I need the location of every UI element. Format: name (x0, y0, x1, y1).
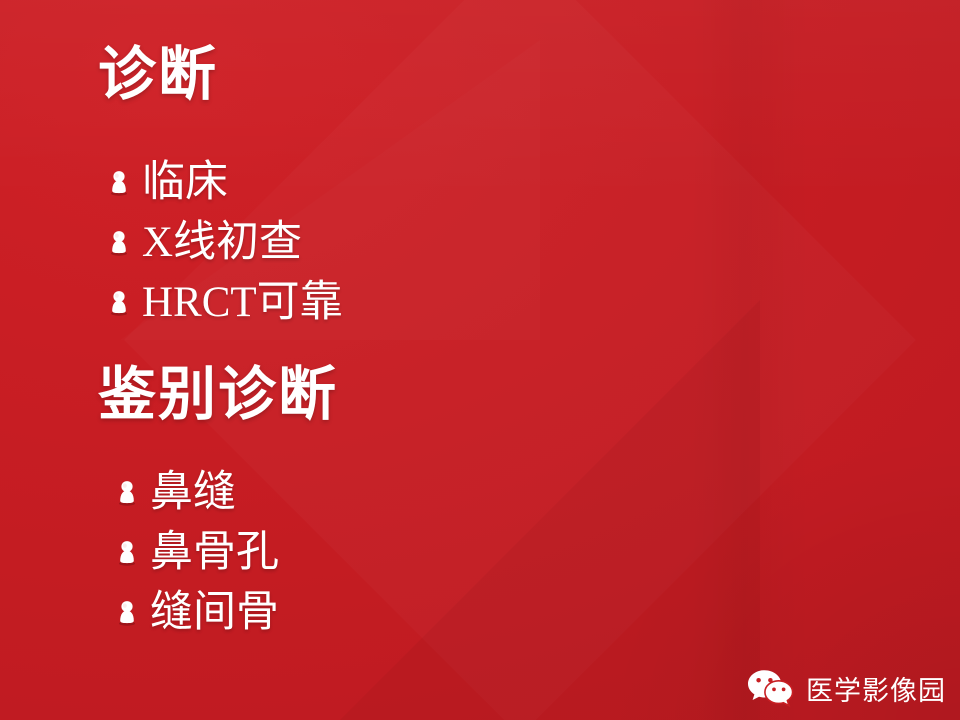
list-item-label: 缝间骨 (150, 591, 279, 634)
list-item-label: 鼻缝 (150, 471, 236, 514)
white-figurine-bullet-icon (116, 538, 138, 566)
white-figurine-bullet-icon (116, 598, 138, 626)
list-item: 鼻骨孔 (116, 522, 279, 582)
list-item: 临床 (108, 152, 343, 212)
list-item-label: X线初查 (142, 221, 302, 264)
list-item: X线初查 (108, 212, 343, 272)
list-item-label: HRCT可靠 (142, 281, 343, 324)
section-title-diagnosis: 诊断 (98, 46, 218, 104)
bullet-list-differential-diagnosis: 鼻缝 鼻骨孔 (116, 462, 279, 642)
list-item: 缝间骨 (116, 582, 279, 642)
bullet-list-diagnosis: 临床 X线初查 (108, 152, 343, 332)
wechat-logo-icon (746, 666, 796, 710)
slide-canvas: 诊断 临床 (0, 0, 960, 720)
list-item-label: 临床 (142, 161, 228, 204)
slide-content: 诊断 临床 (0, 0, 960, 720)
white-figurine-bullet-icon (116, 478, 138, 506)
white-figurine-bullet-icon (108, 168, 130, 196)
white-figurine-bullet-icon (108, 288, 130, 316)
watermark-label: 医学影像园 (806, 669, 946, 708)
list-item: 鼻缝 (116, 462, 279, 522)
list-item-label: 鼻骨孔 (150, 531, 279, 574)
watermark: 医学影像园 (746, 666, 946, 710)
section-title-differential-diagnosis: 鉴别诊断 (98, 366, 338, 424)
list-item: HRCT可靠 (108, 272, 343, 332)
white-figurine-bullet-icon (108, 228, 130, 256)
